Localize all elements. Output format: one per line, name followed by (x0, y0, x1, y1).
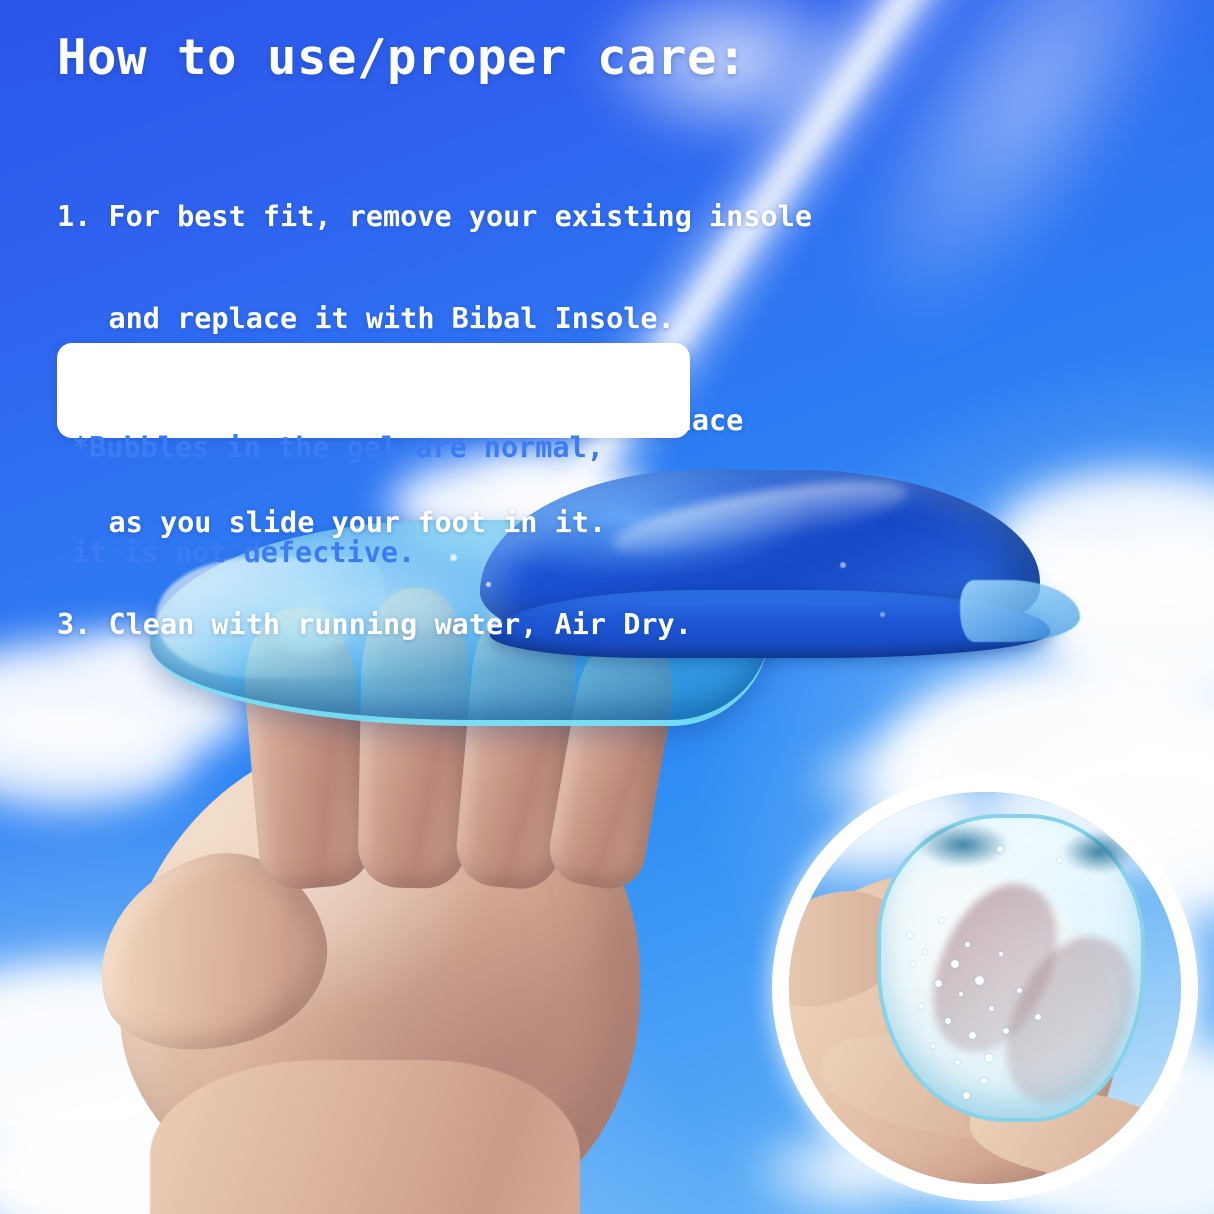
instruction-line: and replace it with Bibal Insole. (57, 302, 812, 336)
gel-bubble (989, 1006, 994, 1011)
gel-bubble (919, 1004, 924, 1009)
instruction-line: 1. For best fit, remove your existing in… (57, 200, 812, 234)
gel-bubble (999, 952, 1003, 956)
gel-bubble (965, 942, 970, 947)
note-line-1: *Bubbles in the gel are normal, (72, 430, 604, 465)
gel-bubble (840, 562, 846, 568)
gel-bubble (975, 976, 984, 985)
note-text: *Bubbles in the gel are normal, it is no… (72, 360, 604, 640)
gel-bubble (985, 1054, 993, 1062)
wrist (150, 1060, 580, 1214)
gel-bubble (1035, 1014, 1041, 1020)
gel-bubble (939, 918, 944, 923)
gel-bubble (951, 960, 959, 968)
gel-bubble (911, 962, 915, 966)
page-title: How to use/proper care: (57, 33, 747, 82)
gel-bubble (969, 1032, 976, 1039)
gel-bubble (907, 932, 913, 938)
gel-bubble (923, 950, 927, 954)
gel-bubble (880, 612, 885, 617)
inset-gel-shade (903, 816, 1023, 874)
gel-bubble (981, 1078, 987, 1084)
closeup-inset-circle (772, 775, 1198, 1201)
product-instruction-image: How to use/proper care: 1. For best fit,… (0, 0, 1214, 1214)
gel-bubble (931, 1044, 935, 1048)
gel-bubble (1017, 988, 1022, 993)
gel-bubble (1003, 1028, 1009, 1034)
gel-bubble (1057, 858, 1062, 863)
gel-bubble (963, 1092, 970, 1099)
gel-bubble (997, 846, 1003, 852)
note-line-2: it is not defective. (72, 535, 604, 570)
gel-bubble (935, 980, 942, 987)
gel-bubble (945, 1018, 951, 1024)
note-callout-box: *Bubbles in the gel are normal, it is no… (57, 343, 690, 438)
gel-bubble (955, 1060, 960, 1065)
inset-gel-shade (1051, 824, 1147, 880)
gel-bubble (959, 992, 963, 996)
